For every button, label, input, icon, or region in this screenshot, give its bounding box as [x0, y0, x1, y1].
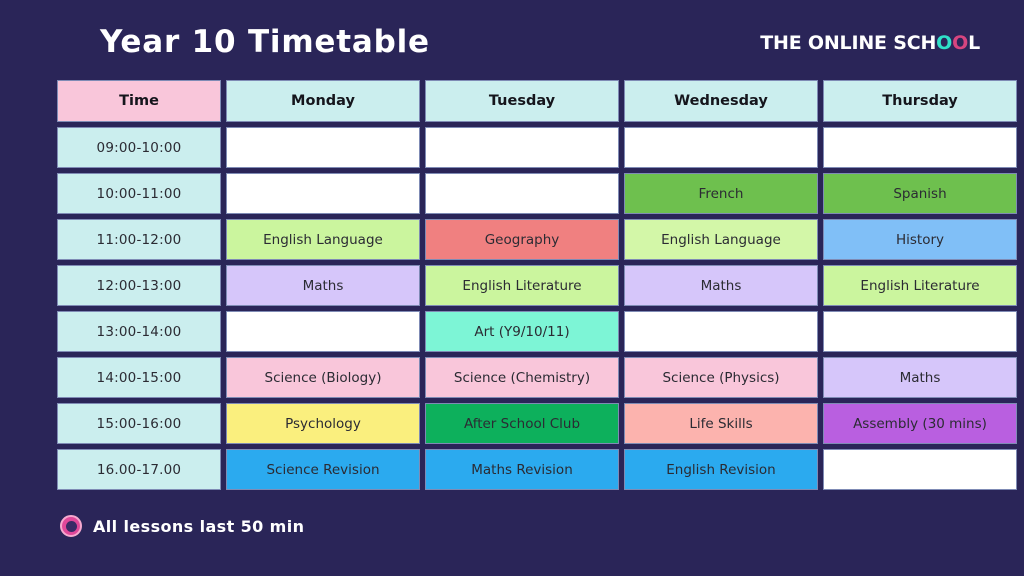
lesson-cell-science-biology[interactable]: Science (Biology) [226, 357, 420, 398]
lesson-cell-maths[interactable]: Maths [624, 265, 818, 306]
logo-o-teal: O [936, 32, 952, 54]
table-row: 10:00-11:00FrenchSpanish [57, 173, 1017, 214]
timer-icon-center [66, 521, 77, 532]
lesson-cell-life-skills[interactable]: Life Skills [624, 403, 818, 444]
table-row: 15:00-16:00PsychologyAfter School ClubLi… [57, 403, 1017, 444]
column-header-monday: Monday [226, 80, 420, 122]
lesson-cell-art-y9-10-11[interactable]: Art (Y9/10/11) [425, 311, 619, 352]
lesson-cell-maths[interactable]: Maths [823, 357, 1017, 398]
time-slot-cell: 15:00-16:00 [57, 403, 221, 444]
time-slot-cell: 12:00-13:00 [57, 265, 221, 306]
lesson-cell-geography[interactable]: Geography [425, 219, 619, 260]
timetable-head: TimeMondayTuesdayWednesdayThursday [57, 80, 1017, 122]
lesson-cell-empty [226, 173, 420, 214]
time-slot-cell: 09:00-10:00 [57, 127, 221, 168]
lesson-cell-empty [425, 127, 619, 168]
column-header-time: Time [57, 80, 221, 122]
time-slot-cell: 13:00-14:00 [57, 311, 221, 352]
lesson-cell-science-physics[interactable]: Science (Physics) [624, 357, 818, 398]
table-row: 11:00-12:00English LanguageGeographyEngl… [57, 219, 1017, 260]
lesson-cell-empty [823, 449, 1017, 490]
lesson-cell-maths-revision[interactable]: Maths Revision [425, 449, 619, 490]
logo-o-pink: O [952, 32, 968, 54]
logo-text-part2: L [968, 32, 980, 54]
column-header-wednesday: Wednesday [624, 80, 818, 122]
lesson-cell-empty [226, 127, 420, 168]
timer-icon [60, 515, 82, 537]
column-header-tuesday: Tuesday [425, 80, 619, 122]
timetable: TimeMondayTuesdayWednesdayThursday 09:00… [52, 75, 1022, 495]
timetable-header-row: TimeMondayTuesdayWednesdayThursday [57, 80, 1017, 122]
time-slot-cell: 10:00-11:00 [57, 173, 221, 214]
timetable-page: Year 10 Timetable THE ONLINE SCH O O L T… [0, 0, 1024, 576]
page-title: Year 10 Timetable [100, 24, 430, 60]
page-header: Year 10 Timetable THE ONLINE SCH O O L [0, 0, 1024, 78]
lesson-cell-english-literature[interactable]: English Literature [823, 265, 1017, 306]
lesson-cell-english-language[interactable]: English Language [226, 219, 420, 260]
lesson-cell-after-school-club[interactable]: After School Club [425, 403, 619, 444]
lesson-cell-empty [624, 127, 818, 168]
timetable-container: TimeMondayTuesdayWednesdayThursday 09:00… [57, 80, 968, 490]
lesson-cell-french[interactable]: French [624, 173, 818, 214]
footnote-text: All lessons last 50 min [93, 517, 304, 536]
brand-logo: THE ONLINE SCH O O L [760, 32, 980, 54]
lesson-cell-empty [823, 127, 1017, 168]
lesson-cell-english-language[interactable]: English Language [624, 219, 818, 260]
lesson-cell-empty [823, 311, 1017, 352]
table-row: 14:00-15:00Science (Biology)Science (Che… [57, 357, 1017, 398]
logo-text-part1: THE ONLINE SCH [760, 32, 936, 54]
time-slot-cell: 11:00-12:00 [57, 219, 221, 260]
table-row: 16.00-17.00Science RevisionMaths Revisio… [57, 449, 1017, 490]
lesson-cell-maths[interactable]: Maths [226, 265, 420, 306]
lesson-cell-empty [226, 311, 420, 352]
footnote: All lessons last 50 min [60, 515, 304, 537]
lesson-cell-assembly-30-mins[interactable]: Assembly (30 mins) [823, 403, 1017, 444]
table-row: 13:00-14:00Art (Y9/10/11) [57, 311, 1017, 352]
lesson-cell-history[interactable]: History [823, 219, 1017, 260]
timetable-body: 09:00-10:0010:00-11:00FrenchSpanish11:00… [57, 127, 1017, 490]
lesson-cell-spanish[interactable]: Spanish [823, 173, 1017, 214]
lesson-cell-science-chemistry[interactable]: Science (Chemistry) [425, 357, 619, 398]
time-slot-cell: 14:00-15:00 [57, 357, 221, 398]
lesson-cell-empty [624, 311, 818, 352]
column-header-thursday: Thursday [823, 80, 1017, 122]
table-row: 09:00-10:00 [57, 127, 1017, 168]
table-row: 12:00-13:00MathsEnglish LiteratureMathsE… [57, 265, 1017, 306]
time-slot-cell: 16.00-17.00 [57, 449, 221, 490]
lesson-cell-english-literature[interactable]: English Literature [425, 265, 619, 306]
lesson-cell-empty [425, 173, 619, 214]
lesson-cell-english-revision[interactable]: English Revision [624, 449, 818, 490]
lesson-cell-psychology[interactable]: Psychology [226, 403, 420, 444]
lesson-cell-science-revision[interactable]: Science Revision [226, 449, 420, 490]
